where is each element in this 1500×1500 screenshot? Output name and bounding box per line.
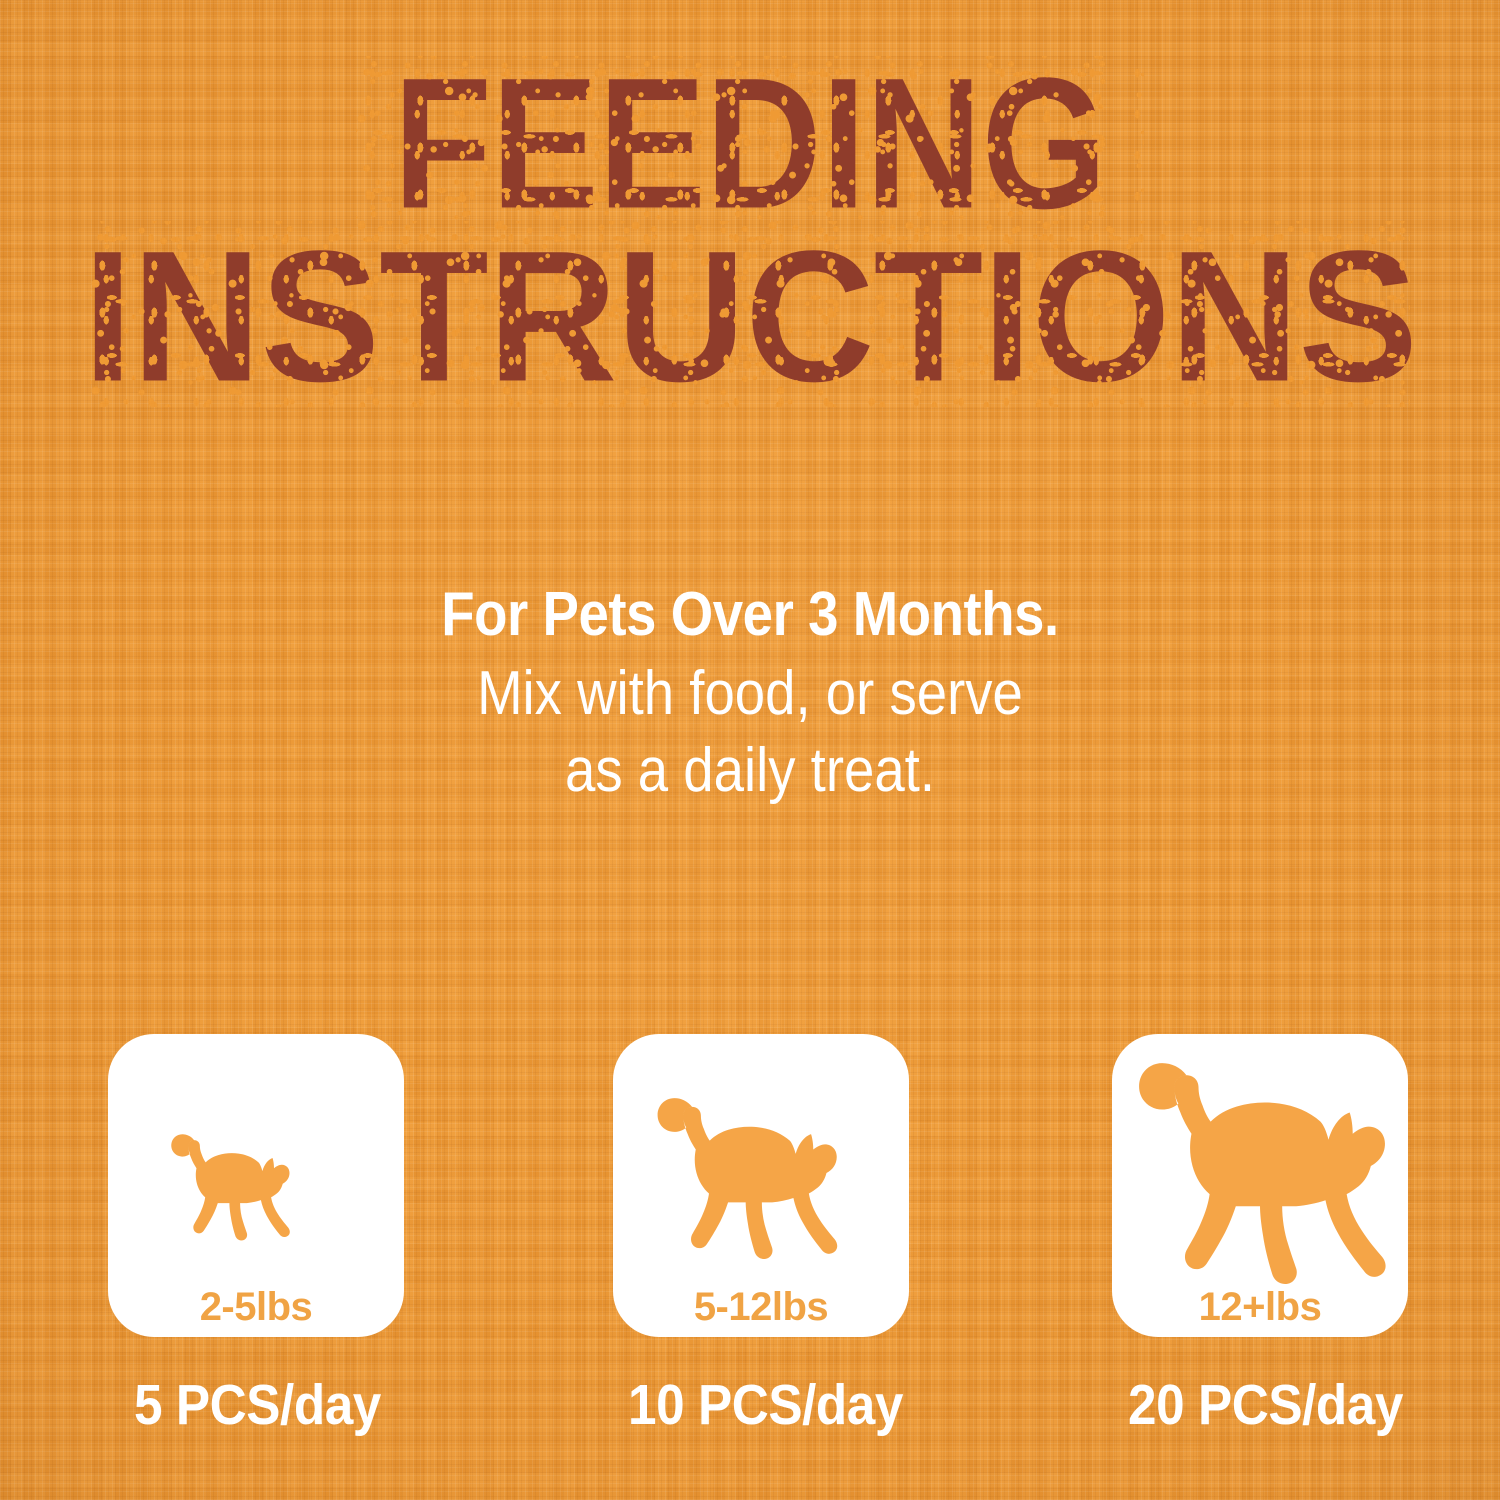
walking-cat-icon: [166, 1133, 346, 1279]
dosage-captions: 5 PCS/day 10 PCS/day 20 PCS/day: [0, 1372, 1500, 1442]
instruction-line-1: For Pets Over 3 Months.: [90, 578, 1410, 651]
title-line-1: FEEDING: [393, 57, 1106, 232]
weight-label: 2-5lbs: [108, 1285, 404, 1329]
cat-icon-holder: [108, 1133, 404, 1279]
feeding-instructions-poster: FEEDING INSTRUCTIONS For Pets Over 3 Mon…: [0, 0, 1500, 1500]
title-line-1-wrapper: FEEDING: [362, 62, 1137, 227]
feeding-guide-cards: 2-5lbs 5-12lbs 12+lbs: [0, 1034, 1500, 1344]
instruction-line-3: as a daily treat.: [90, 734, 1410, 807]
title-line-2: INSTRUCTIONS: [83, 230, 1417, 405]
feeding-card: 2-5lbs: [108, 1034, 404, 1337]
weight-label: 12+lbs: [1112, 1285, 1408, 1329]
dosage-label: 10 PCS/day: [628, 1372, 903, 1438]
feeding-card: 5-12lbs: [613, 1034, 909, 1337]
walking-cat-icon: [1129, 1067, 1391, 1279]
instruction-line-2: Mix with food, or serve: [90, 657, 1410, 730]
walking-cat-icon: [650, 1099, 872, 1279]
instruction-text-block: For Pets Over 3 Months. Mix with food, o…: [0, 578, 1500, 807]
weight-label: 5-12lbs: [613, 1285, 909, 1329]
dosage-label: 5 PCS/day: [134, 1372, 381, 1438]
title-line-2-wrapper: INSTRUCTIONS: [96, 227, 1404, 400]
feeding-card: 12+lbs: [1112, 1034, 1408, 1337]
dosage-label: 20 PCS/day: [1128, 1372, 1403, 1438]
cat-icon-holder: [613, 1099, 909, 1279]
page-title: FEEDING INSTRUCTIONS: [0, 62, 1500, 401]
cat-icon-holder: [1112, 1067, 1408, 1279]
